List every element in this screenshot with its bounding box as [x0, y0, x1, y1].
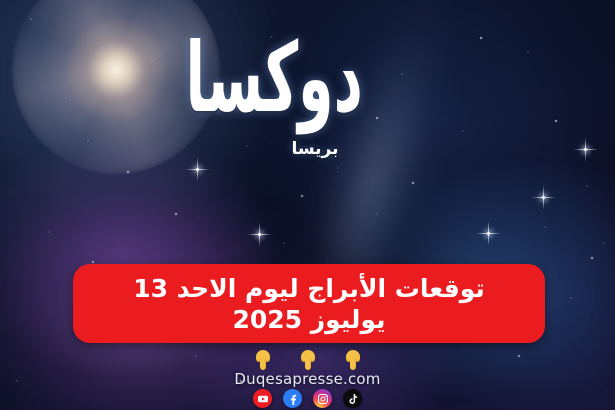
website-name: Duqesapresse.com [0, 370, 615, 388]
instagram-icon[interactable] [313, 389, 332, 408]
pointing-down-icon [342, 349, 364, 371]
logo-main-text: دوكسا [267, 29, 363, 127]
twinkle-star [258, 233, 261, 236]
headline-line-2: يوليوز 2025 [232, 304, 385, 335]
youtube-icon[interactable] [253, 389, 272, 408]
twinkle-star [196, 168, 199, 171]
site-logo: دوكسا بريسا [263, 22, 367, 170]
pointing-down-icon [297, 349, 319, 371]
headline-banner: توقعات الأبراج ليوم الاحد 13 يوليوز 2025 [73, 264, 545, 343]
logo-sub-text: بريسا [263, 139, 367, 159]
pointing-down-arrows [0, 348, 615, 372]
horoscope-poster: دوكسا بريسا توقعات الأبراج ليوم الاحد 13… [0, 0, 615, 410]
headline-line-1: توقعات الأبراج ليوم الاحد 13 [133, 273, 485, 304]
facebook-icon[interactable] [283, 389, 302, 408]
twinkle-star [584, 148, 587, 151]
social-icons-row [0, 389, 615, 408]
tiktok-icon[interactable] [343, 389, 362, 408]
twinkle-star [542, 196, 545, 199]
pointing-down-icon [252, 349, 274, 371]
twinkle-star [487, 232, 490, 235]
